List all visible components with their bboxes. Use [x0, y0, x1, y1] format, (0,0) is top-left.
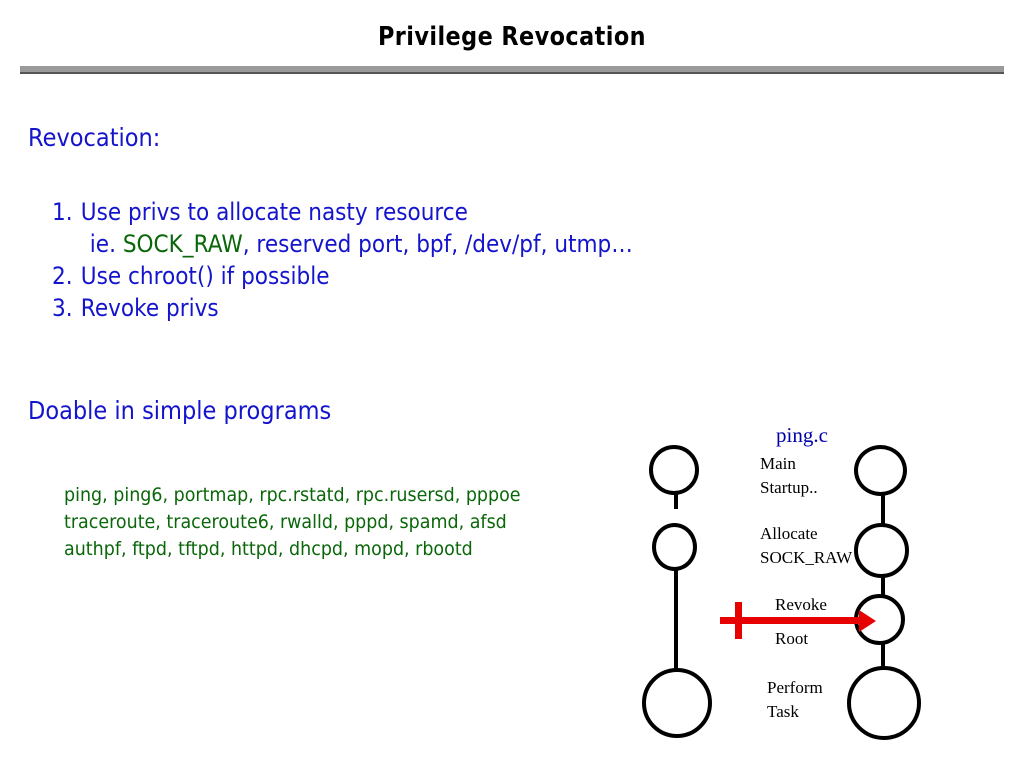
heading-doable-programs: Doable in simple programs	[28, 396, 331, 425]
right-node-main-startup	[854, 445, 907, 496]
list-item-label: Revoke privs	[81, 294, 219, 322]
list-item-label: Use chroot() if possible	[81, 262, 330, 290]
list-item: 1.Use privs to allocate nasty resource	[52, 197, 633, 229]
program-list-line: ping, ping6, portmap, rpc.rstatd, rpc.ru…	[64, 482, 521, 509]
label-line: Revoke	[775, 593, 827, 617]
label-line: Root	[775, 627, 827, 651]
list-item-number: 3.	[52, 293, 81, 325]
revoke-arrow-head-icon	[859, 610, 876, 632]
subnote-highlight: SOCK_RAW	[123, 230, 243, 258]
heading-revocation: Revocation:	[28, 123, 160, 152]
program-name-list: ping, ping6, portmap, rpc.rstatd, rpc.ru…	[64, 482, 521, 563]
diagram-label-stage-startup: Main Startup..	[760, 452, 818, 500]
diagram-label-stage-perform: Perform Task	[767, 676, 823, 724]
diagram-label-stage-allocate: Allocate SOCK_RAW	[760, 522, 852, 570]
left-node-main-startup	[649, 445, 699, 495]
left-connector-2-3	[674, 568, 678, 673]
list-item: 2.Use chroot() if possible	[52, 261, 633, 293]
revocation-steps-list: 1.Use privs to allocate nasty resource i…	[52, 197, 633, 325]
label-line: SOCK_RAW	[760, 546, 852, 570]
title-divider	[20, 66, 1004, 74]
list-item-number: 2.	[52, 261, 81, 293]
list-item-label: Use privs to allocate nasty resource	[81, 198, 468, 226]
subnote-prefix: ie.	[90, 230, 123, 258]
left-node-allocate-sockraw	[652, 523, 697, 571]
page-title: Privilege Revocation	[72, 22, 953, 52]
program-list-line: authpf, ftpd, tftpd, httpd, dhcpd, mopd,…	[64, 536, 521, 563]
subnote-suffix: , reserved port, bpf, /dev/pf, utmp…	[243, 230, 633, 258]
left-node-perform-task	[642, 668, 712, 738]
label-line: Task	[767, 700, 823, 724]
list-item: 3.Revoke privs	[52, 293, 633, 325]
program-list-line: traceroute, traceroute6, rwalld, pppd, s…	[64, 509, 521, 536]
right-node-allocate-sockraw	[854, 523, 909, 578]
label-line: Startup..	[760, 476, 818, 500]
list-item-subnote: ie. SOCK_RAW, reserved port, bpf, /dev/p…	[52, 229, 633, 261]
list-item-number: 1.	[52, 197, 81, 229]
privilege-flow-diagram: ping.c Main Startup.. Allocate SOCK_RAW …	[650, 415, 1024, 768]
right-connector-3-4	[881, 642, 885, 668]
diagram-title: ping.c	[776, 423, 828, 448]
label-line: Perform	[767, 676, 823, 700]
right-node-perform-task	[847, 666, 921, 740]
label-line: Main	[760, 452, 818, 476]
label-line: Allocate	[760, 522, 852, 546]
right-connector-1-2	[881, 493, 885, 525]
revoke-arrow-crossbar	[735, 602, 742, 639]
